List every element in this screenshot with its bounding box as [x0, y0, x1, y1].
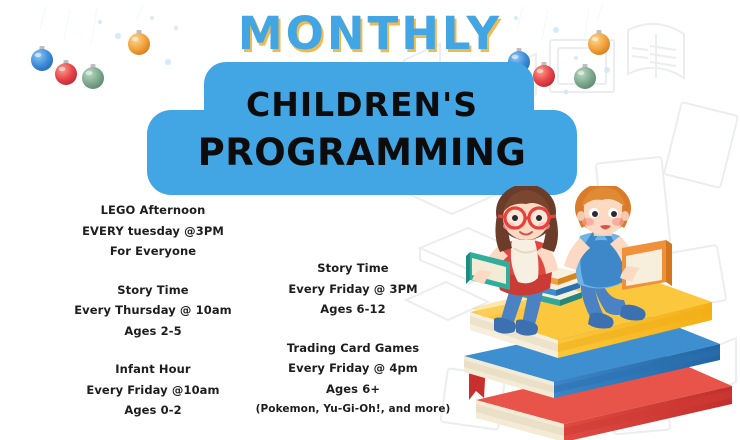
program-title: Trading Card Games	[228, 338, 478, 359]
program-schedule: Every Friday @ 3PM	[228, 279, 478, 300]
program-title: LEGO Afternoon	[28, 200, 278, 221]
title-banner: CHILDREN'S PROGRAMMING	[147, 62, 577, 195]
program-audience: Ages 6+	[228, 379, 478, 400]
program-schedule: Every Friday @ 4pm	[228, 358, 478, 379]
boy-book	[622, 240, 672, 290]
banner-text-group: CHILDREN'S PROGRAMMING	[147, 62, 577, 195]
program-block-story-time-friday: Story Time Every Friday @ 3PM Ages 6-12	[228, 258, 478, 320]
page-title-line-2: PROGRAMMING	[147, 128, 577, 178]
program-block-trading-card-games: Trading Card Games Every Friday @ 4pm Ag…	[228, 338, 478, 420]
eyebrow-wrap: MONTHLY	[0, 10, 740, 58]
program-schedule: EVERY tuesday @3PM	[28, 221, 278, 242]
program-audience: Ages 6-12	[228, 299, 478, 320]
program-title: Story Time	[228, 258, 478, 279]
program-note: (Pokemon, Yu-Gi-Oh!, and more)	[228, 399, 478, 420]
monthly-childrens-programming-poster: MONTHLY CHILDREN'S PROGRAMMING	[0, 0, 740, 440]
schedule-right-column: Story Time Every Friday @ 3PM Ages 6-12 …	[228, 258, 478, 420]
eyebrow-monthly: MONTHLY	[238, 10, 502, 58]
page-title-line-1: CHILDREN'S	[147, 82, 577, 128]
program-block-lego-afternoon: LEGO Afternoon EVERY tuesday @3PM For Ev…	[28, 200, 278, 262]
